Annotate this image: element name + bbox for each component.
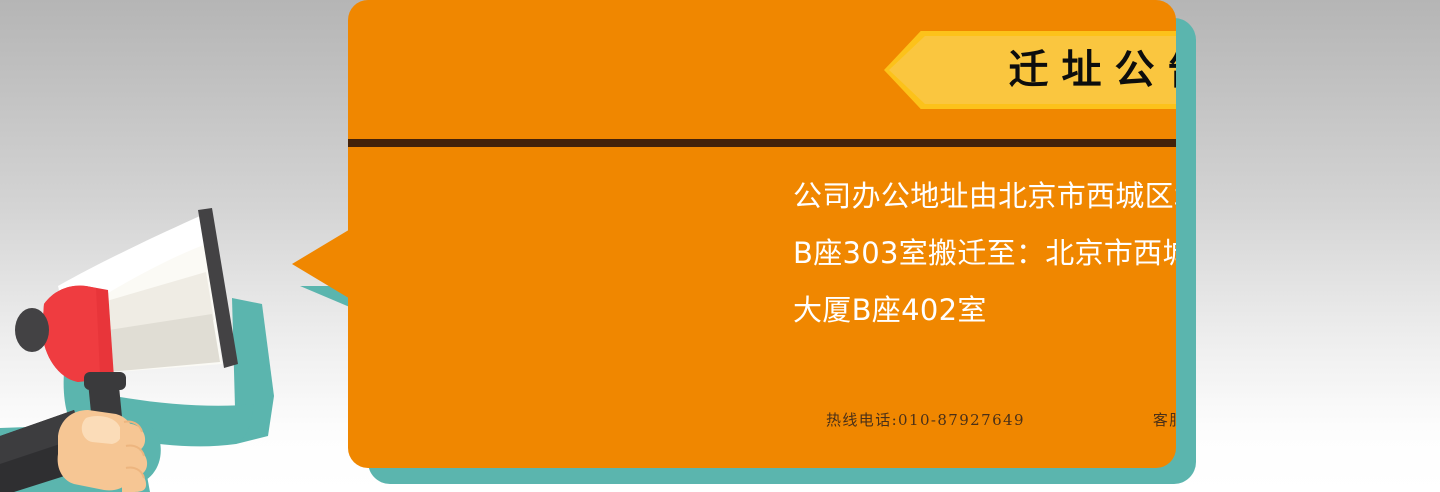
announcement-graphic: 迁址公告 公司办公地址由北京市西城区北三环中路华尊大厦B座303室搬迁至：北京市…	[0, 0, 1440, 492]
title-banner: 迁址公告	[884, 31, 1176, 109]
speech-tail	[292, 228, 352, 300]
hotline-text: 热线电话:010-87927649	[826, 409, 1025, 430]
megaphone-illustration	[0, 186, 320, 492]
announcement-card: 迁址公告 公司办公地址由北京市西城区北三环中路华尊大厦B座303室搬迁至：北京市…	[348, 0, 1176, 468]
header-divider	[348, 139, 1176, 147]
announcement-body: 公司办公地址由北京市西城区北三环中路华尊大厦B座303室搬迁至：北京市西城区北三…	[793, 168, 1176, 339]
qq-text: 客服QQ：2413418188	[1153, 409, 1176, 430]
contact-footer: 热线电话:010-87927649 客服QQ：2413418188	[826, 409, 1176, 430]
banner-title-text: 迁址公告	[884, 31, 1176, 109]
hand	[58, 410, 147, 492]
megaphone-knob	[15, 308, 49, 352]
